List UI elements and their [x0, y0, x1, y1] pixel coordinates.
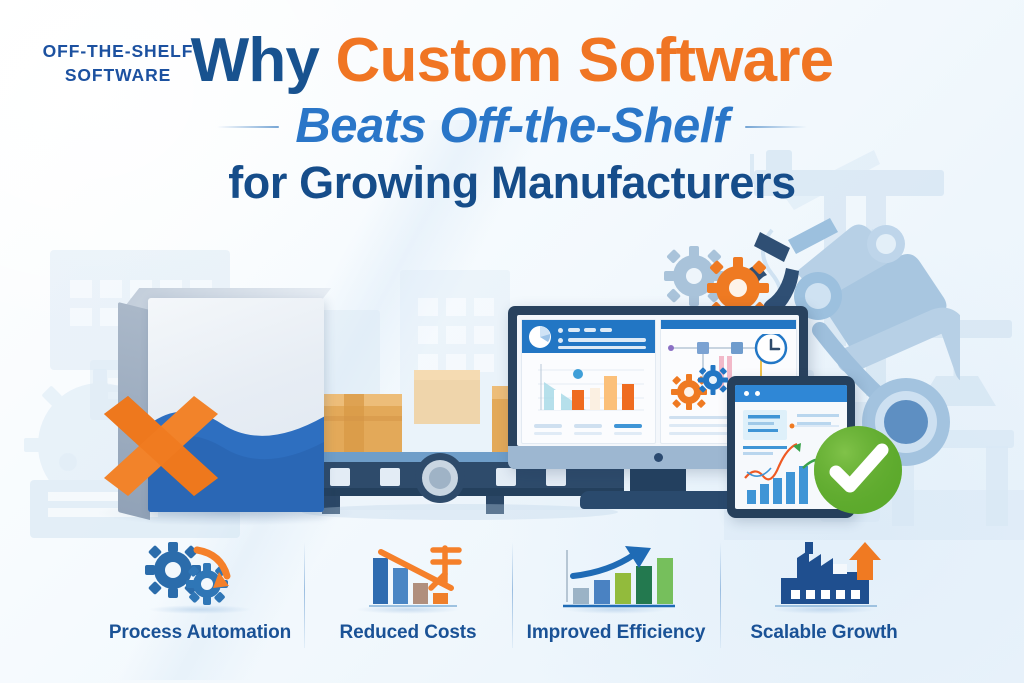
feature-label: Reduced Costs — [339, 622, 476, 644]
infographic-canvas: Why Custom Software Beats Off-the-Shelf … — [0, 0, 1024, 683]
headline-line-2: Beats Off-the-Shelf — [295, 102, 728, 151]
factory-up-arrow-icon — [749, 536, 899, 618]
cardboard-box-back — [414, 370, 480, 424]
feature-strip: Process Automation Reduced Costs — [96, 536, 928, 662]
clock-icon — [756, 334, 786, 363]
dashboard-panel-left — [521, 319, 656, 444]
headline-emphasis-custom-software: Custom Software — [336, 26, 834, 95]
software-box-label-line-2: SOFTWARE — [30, 64, 206, 88]
gear-grey-icon — [664, 246, 724, 306]
icon-shadow — [772, 605, 876, 614]
icon-shadow — [564, 605, 668, 614]
monitor-power-dot — [654, 453, 663, 462]
feature-improved-efficiency[interactable]: Improved Efficiency — [512, 536, 720, 662]
icon-shadow — [356, 605, 460, 614]
gear-blue-small-icon — [698, 365, 728, 395]
declining-bar-chart-icon — [333, 536, 483, 618]
decorative-rule-left — [217, 126, 279, 128]
feature-process-automation[interactable]: Process Automation — [96, 536, 304, 662]
pie-chart-icon — [528, 325, 552, 349]
software-box-label-line-1: OFF-THE-SHELF — [30, 40, 206, 64]
dashboard-bar-chart — [532, 360, 648, 416]
feature-label: Improved Efficiency — [527, 622, 706, 644]
headline-line-3: for Growing Manufacturers — [0, 160, 1024, 205]
headline-word-why: Why — [191, 26, 336, 95]
gears-arrow-icon — [125, 536, 275, 618]
green-check-icon — [812, 424, 904, 516]
software-box-label: OFF-THE-SHELF SOFTWARE — [30, 40, 206, 87]
feature-label: Process Automation — [109, 622, 291, 644]
feature-scalable-growth[interactable]: Scalable Growth — [720, 536, 928, 662]
headline-line-2-row: Beats Off-the-Shelf — [0, 102, 1024, 151]
dashboard-panel-header-thin — [661, 320, 796, 329]
orange-x-icon — [88, 392, 228, 514]
tablet-header-dot-2 — [755, 391, 760, 396]
tablet-header-dot-1 — [744, 391, 749, 396]
feature-label: Scalable Growth — [750, 622, 897, 644]
tablet-app-header — [735, 385, 847, 402]
feature-reduced-costs[interactable]: Reduced Costs — [304, 536, 512, 662]
monitor-stand-neck — [630, 469, 686, 493]
rising-bar-chart-arrow-icon — [541, 536, 691, 618]
icon-shadow — [148, 605, 252, 614]
monitor-stand-base — [580, 491, 736, 509]
decorative-rule-right — [745, 126, 807, 128]
